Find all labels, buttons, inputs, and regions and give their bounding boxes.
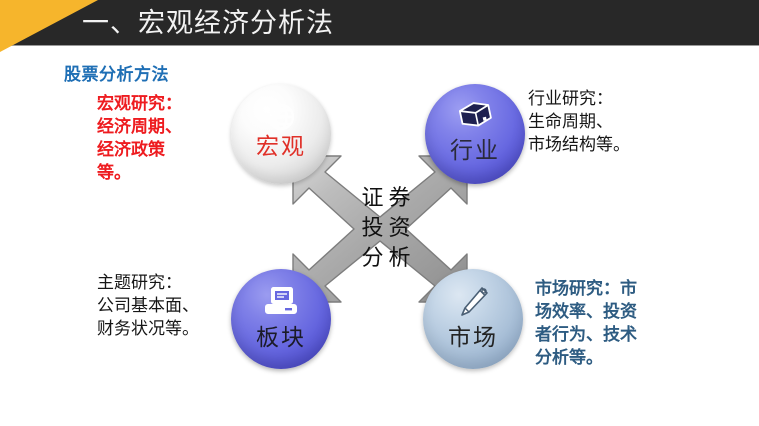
slide-canvas: 一、宏观经济分析法 股票分析方法 证券 投资 分析 — [0, 0, 759, 426]
node-industry-label: 行业 — [425, 138, 525, 164]
pencil-icon — [423, 285, 523, 319]
page-title: 一、宏观经济分析法 — [82, 4, 334, 44]
header-underline — [0, 45, 759, 46]
node-market-label: 市场 — [423, 325, 523, 351]
book-icon — [425, 100, 525, 130]
caption-industry: 行业研究： 生命周期、 市场结构等。 — [528, 88, 708, 157]
node-macro[interactable]: 宏观 — [231, 84, 331, 184]
caption-market: 市场研究：市 场效率、投资 者行为、技术 分析等。 — [535, 278, 695, 370]
caption-sector: 主题研究： 公司基本面、 财务状况等。 — [97, 272, 277, 341]
node-macro-label: 宏观 — [231, 134, 331, 160]
node-industry[interactable]: 行业 — [425, 84, 525, 184]
caption-macro: 宏观研究： 经济周期、 经济政策 等。 — [97, 93, 217, 185]
node-market[interactable]: 市场 — [423, 269, 523, 369]
globe-icon — [231, 100, 331, 134]
section-subtitle: 股票分析方法 — [64, 60, 169, 85]
